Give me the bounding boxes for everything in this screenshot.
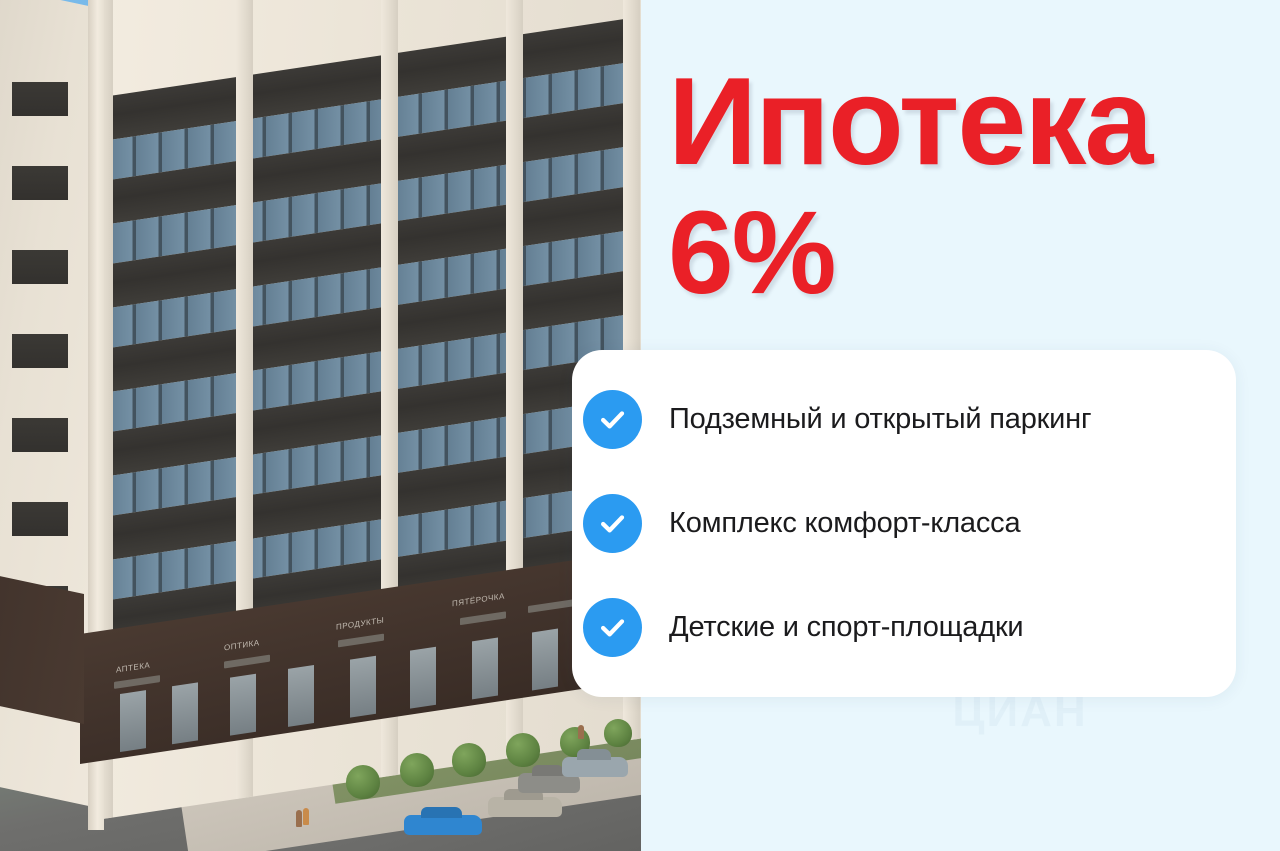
feature-row: Подземный и открытый паркинг [583, 390, 1236, 449]
car-blue [404, 815, 482, 835]
apartment-building: АПТЕКА ОПТИКА ПРОДУКТЫ ПЯТЁРОЧКА [0, 0, 640, 820]
feature-label: Подземный и открытый паркинг [669, 403, 1091, 436]
shop-sign-pyaterochka: ПЯТЁРОЧКА [452, 592, 505, 609]
headline-line-1: Ипотека [668, 62, 1228, 184]
features-card: Подземный и открытый паркинг Комплекс ко… [572, 350, 1236, 697]
car-silver [562, 757, 628, 777]
shop-sign-apteka: АПТЕКА [116, 661, 150, 675]
headline-line-2: 6% [668, 196, 1228, 312]
ground-floor-plinth-left [0, 568, 84, 724]
shop-sign-optika: ОПТИКА [224, 638, 260, 652]
shop-sign-produkty: ПРОДУКТЫ [336, 616, 384, 632]
feature-row: Комплекс комфорт-класса [583, 494, 1236, 553]
building-photo: АПТЕКА ОПТИКА ПРОДУКТЫ ПЯТЁРОЧКА [0, 0, 641, 851]
feature-list: Подземный и открытый паркинг Комплекс ко… [583, 390, 1236, 657]
headline: Ипотека 6% [668, 62, 1228, 311]
check-circle-icon [583, 598, 642, 657]
car-beige [488, 797, 562, 817]
feature-label: Комплекс комфорт-класса [669, 507, 1020, 540]
feature-label: Детские и спорт-площадки [669, 611, 1023, 644]
feature-row: Детские и спорт-площадки [583, 598, 1236, 657]
check-circle-icon [583, 390, 642, 449]
check-circle-icon [583, 494, 642, 553]
promo-banner: АПТЕКА ОПТИКА ПРОДУКТЫ ПЯТЁРОЧКА Ипотека… [0, 0, 1280, 851]
